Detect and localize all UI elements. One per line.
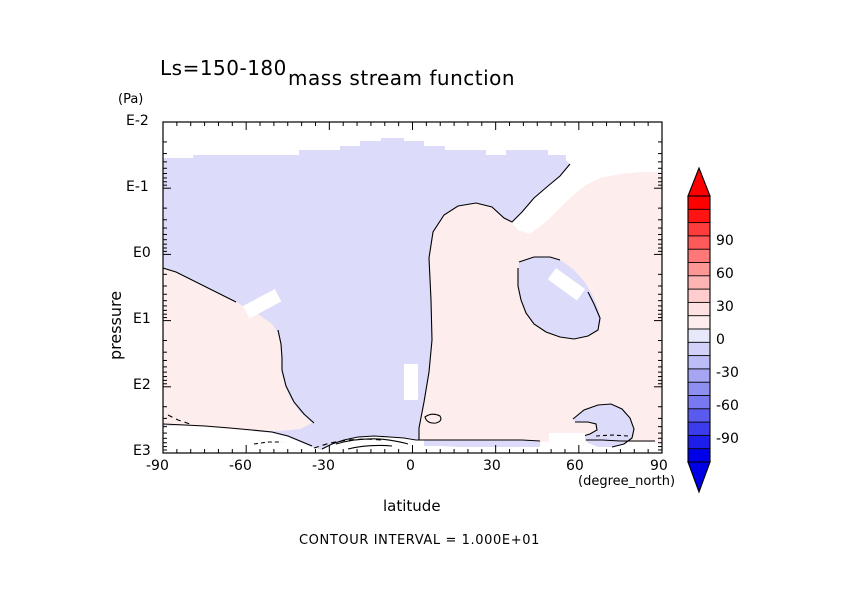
colorbar-extend-top xyxy=(688,168,710,196)
colorbar-band-14 xyxy=(688,382,710,396)
colorbar-band-8 xyxy=(688,302,710,316)
colorbar-band-0 xyxy=(688,196,710,210)
colorbar-band-12 xyxy=(688,356,710,370)
colorbar-band-15 xyxy=(688,396,710,410)
figure-canvas: Ls=150-180 mass stream function (Pa) pre… xyxy=(0,0,842,595)
colorbar-band-9 xyxy=(688,316,710,330)
colorbar-band-5 xyxy=(688,263,710,277)
colorbar-band-17 xyxy=(688,422,710,436)
colorbar-band-4 xyxy=(688,249,710,263)
filled-contour-regions xyxy=(163,138,662,453)
colorbar-band-13 xyxy=(688,369,710,383)
colorbar-band-10 xyxy=(688,329,710,343)
colorbar-band-18 xyxy=(688,435,710,449)
colorbar-band-3 xyxy=(688,236,710,250)
region-negative-surface-strip xyxy=(424,440,540,447)
colorbar-band-11 xyxy=(688,342,710,356)
colorbar-band-2 xyxy=(688,223,710,237)
contour-plot-svg xyxy=(0,0,842,595)
colorbar[interactable] xyxy=(688,168,710,492)
colorbar-band-7 xyxy=(688,289,710,303)
colorbar-band-1 xyxy=(688,209,710,223)
colorbar-band-19 xyxy=(688,449,710,463)
colorbar-band-16 xyxy=(688,409,710,423)
colorbar-extend-bottom xyxy=(688,462,710,492)
colorbar-band-6 xyxy=(688,276,710,290)
